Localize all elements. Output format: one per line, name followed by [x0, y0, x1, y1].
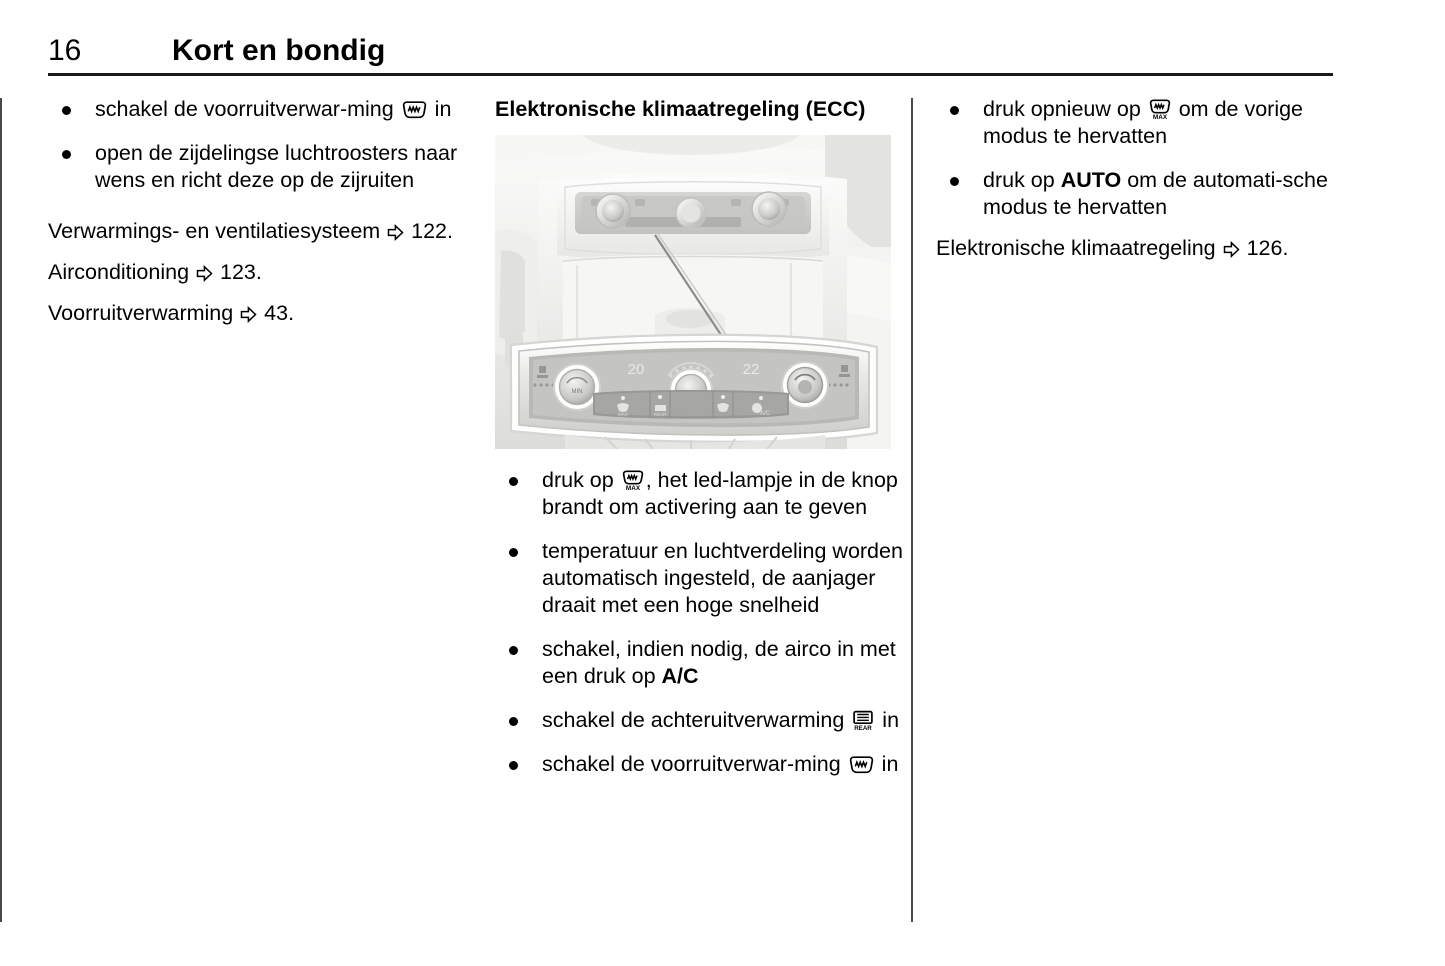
rear-defrost-icon: REAR	[852, 710, 874, 731]
bullet-dot	[950, 106, 959, 115]
list-item-text-post: in	[429, 97, 452, 121]
column-one: schakel de voorruitverwar-­ming in open …	[48, 96, 468, 327]
ac-button-label: A/C	[662, 664, 699, 688]
arrow-right-icon	[387, 224, 404, 241]
cross-reference-label: Verwarmings- en ventilatiesysteem	[48, 219, 386, 243]
list-item-text-post: in	[876, 708, 899, 732]
bullet-dot	[509, 548, 518, 557]
list-item: open de zijdelingse luchtroosters naar w…	[48, 140, 468, 194]
column-two: Elektronische klimaatregeling (ECC)	[495, 96, 915, 778]
climate-control-panel-photo: MIN AUTO 20 22	[495, 135, 891, 449]
cross-reference-page: 123.	[214, 260, 262, 284]
svg-text:MIN: MIN	[572, 389, 583, 395]
list-item-text-pre: druk op	[983, 168, 1061, 192]
cross-reference-label: Airconditioning	[48, 260, 195, 284]
page-header: 16 Kort en bondig	[48, 32, 1333, 76]
cross-reference: Airconditioning 123.	[48, 259, 468, 286]
windshield-defrost-icon	[402, 101, 427, 119]
list-item-text-post: in	[876, 752, 899, 776]
page-columns: schakel de voorruitverwar-­ming in open …	[0, 96, 1445, 926]
auto-button-label: AUTO	[1061, 168, 1122, 192]
svg-text:MAX: MAX	[618, 412, 628, 417]
list-item: druk opnieuw op MAX om de vorige modus t…	[936, 96, 1356, 150]
column-one-bullet-list: schakel de voorruitverwar-­ming in open …	[48, 96, 468, 194]
section-heading: Elektronische klimaatregeling (ECC)	[495, 96, 915, 123]
svg-text:MAX: MAX	[1153, 114, 1168, 120]
bullet-dot	[509, 477, 518, 486]
cross-reference-page: 126.	[1241, 236, 1289, 260]
list-item: schakel de achteruitverwarming REAR in	[495, 707, 915, 734]
list-item-text-pre: schakel, indien nodig, de airco in met e…	[542, 637, 896, 688]
temp-right: 22	[743, 361, 760, 378]
windshield-defrost-icon	[849, 756, 874, 774]
column-three: druk opnieuw op MAX om de vorige modus t…	[936, 96, 1356, 262]
list-item-text-pre: schakel de voorruitverwar-­ming	[95, 97, 400, 121]
list-item-text-pre: schakel de achteruitverwarming	[542, 708, 850, 732]
list-item: druk op MAX , het led-lampje in de knop …	[495, 467, 915, 521]
arrow-right-icon	[196, 265, 213, 282]
arrow-right-icon	[240, 306, 257, 323]
temp-left: 20	[628, 361, 645, 378]
cross-reference-label: Voorruitverwarming	[48, 301, 239, 325]
list-item: schakel de voorruitverwar-­ming in	[495, 751, 915, 778]
svg-text:MAX: MAX	[626, 485, 641, 491]
bullet-dot	[950, 177, 959, 186]
header-divider-rule	[48, 73, 1333, 76]
column-divider-left	[0, 98, 2, 922]
bullet-dot	[509, 717, 518, 726]
bullet-dot	[509, 761, 518, 770]
column-one-references: Verwarmings- en ventilatiesysteem 122. A…	[48, 218, 468, 327]
arrow-right-icon	[1223, 241, 1240, 258]
list-item: druk op AUTO om de automati-sche modus t…	[936, 167, 1356, 221]
list-item-text: open de zijdelingse luchtroosters naar w…	[95, 141, 457, 192]
list-item: schakel de voorruitverwar-­ming in	[48, 96, 468, 123]
list-item: temperatuur en luchtverdeling worden aut…	[495, 538, 915, 619]
cross-reference: Voorruitverwarming 43.	[48, 300, 468, 327]
bullet-dot	[509, 646, 518, 655]
column-three-bullet-list: druk opnieuw op MAX om de vorige modus t…	[936, 96, 1356, 221]
list-item-text: temperatuur en luchtverdeling worden aut…	[542, 539, 903, 617]
svg-text:REAR: REAR	[855, 725, 873, 731]
cross-reference-page: 43.	[258, 301, 294, 325]
page-number: 16	[48, 32, 81, 70]
column-two-bullet-list: druk op MAX , het led-lampje in de knop …	[495, 467, 915, 778]
cross-reference-label: Elektronische klimaatregeling	[936, 236, 1222, 260]
list-item-text-pre: druk opnieuw op	[983, 97, 1147, 121]
cross-reference: Elektronische klimaatregeling 126.	[936, 235, 1356, 262]
svg-text:REAR: REAR	[654, 412, 667, 417]
cross-reference: Verwarmings- en ventilatiesysteem 122.	[48, 218, 468, 245]
column-three-references: Elektronische klimaatregeling 126.	[936, 235, 1356, 262]
cross-reference-page: 122.	[405, 219, 453, 243]
max-defrost-icon: MAX	[1149, 99, 1171, 120]
bullet-dot	[62, 150, 71, 159]
svg-text:A/C: A/C	[760, 411, 771, 417]
page-title: Kort en bondig	[172, 32, 385, 70]
list-item-text-pre: schakel de voorruitverwar-­ming	[542, 752, 847, 776]
list-item-text-pre: druk op	[542, 468, 620, 492]
list-item: schakel, indien nodig, de airco in met e…	[495, 636, 915, 690]
bullet-dot	[62, 106, 71, 115]
max-defrost-icon: MAX	[622, 470, 644, 491]
